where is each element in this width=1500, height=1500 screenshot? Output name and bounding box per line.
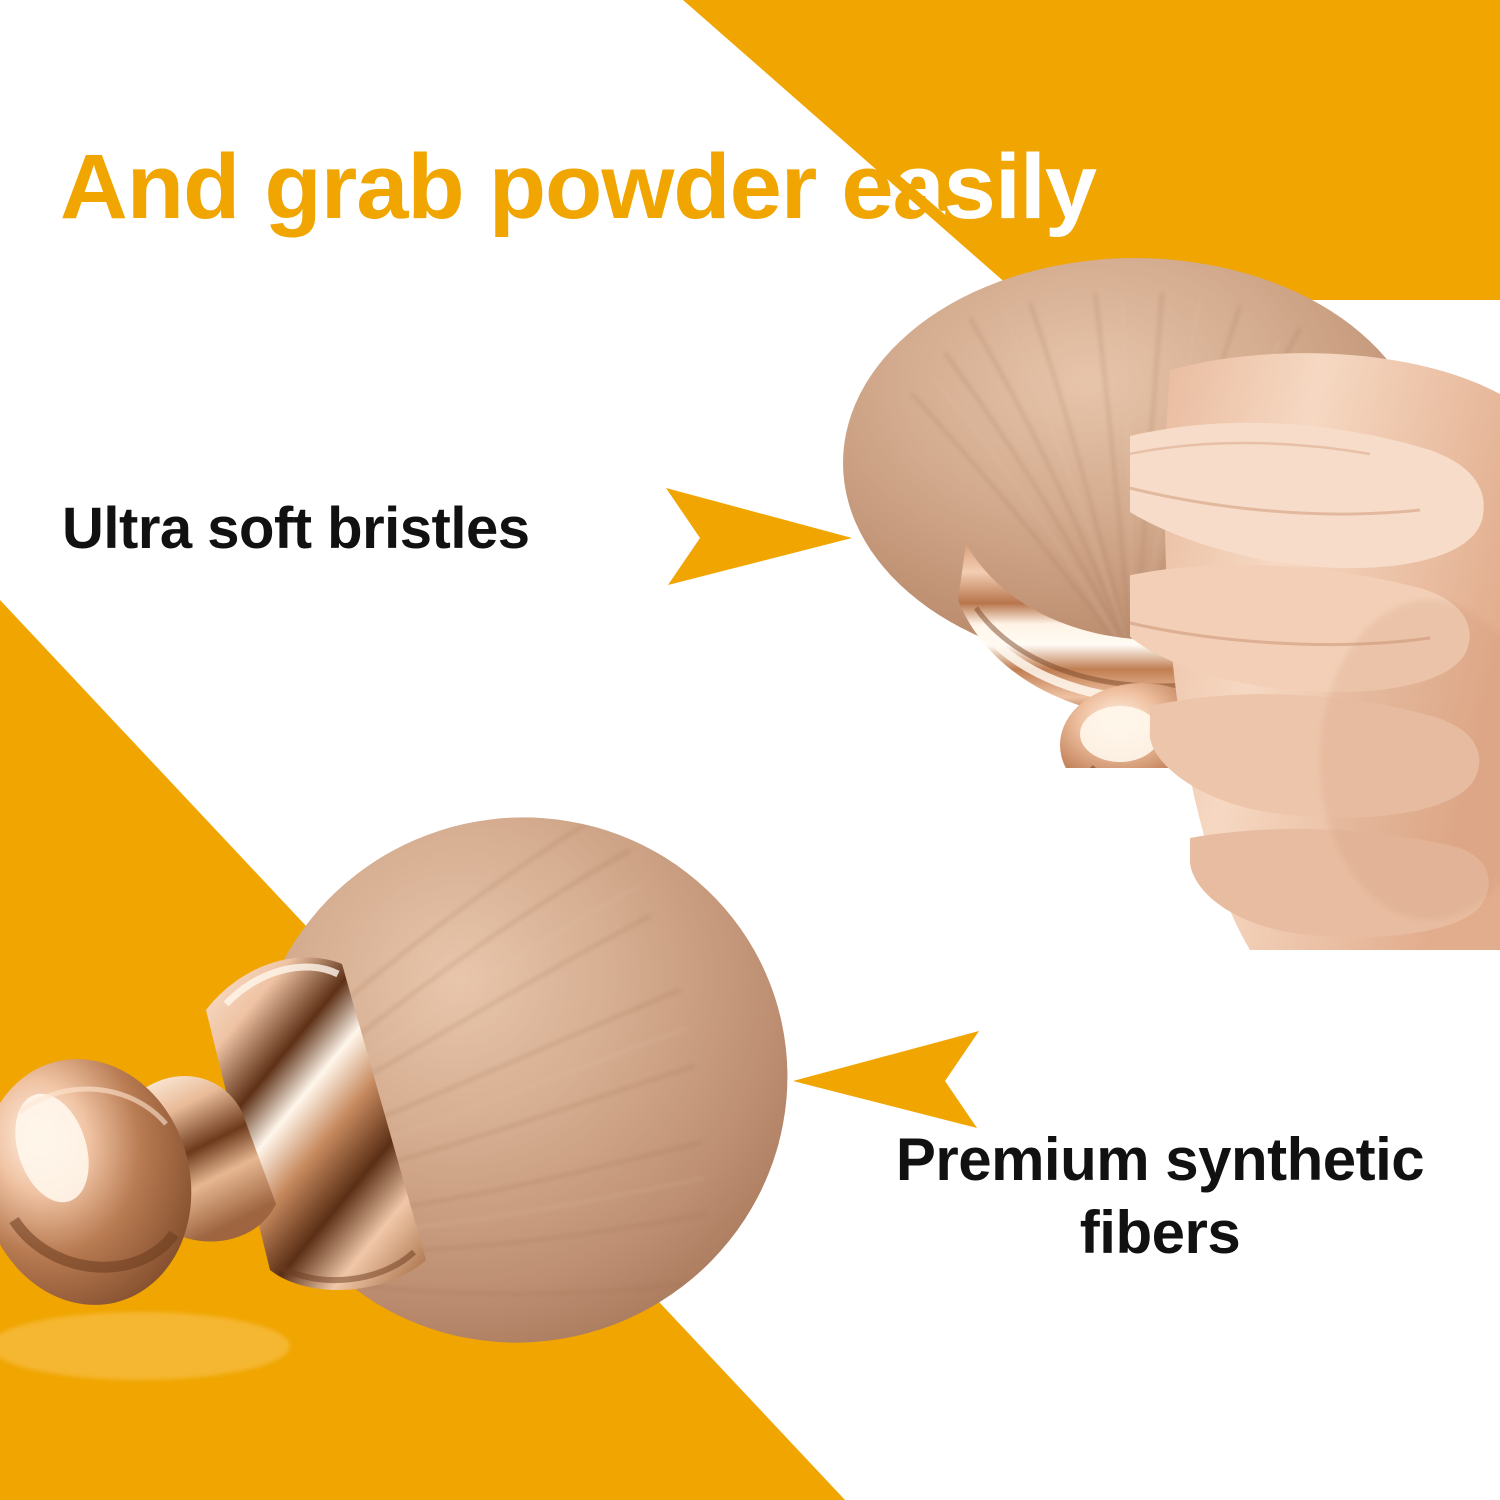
headline: And grab powder easily And grab powder e… (60, 132, 1320, 242)
hand-photo (1130, 330, 1500, 950)
callout-label-premium-synthetic-fibers: Premium synthetic fibers (850, 1123, 1470, 1269)
brush-photo-bottom (0, 790, 820, 1430)
arrow-left-icon (793, 1025, 983, 1131)
arrow-right-icon (662, 482, 852, 588)
callout-label-ultra-soft-bristles: Ultra soft bristles (62, 495, 530, 562)
infographic-canvas: And grab powder easily And grab powder e… (0, 0, 1500, 1500)
